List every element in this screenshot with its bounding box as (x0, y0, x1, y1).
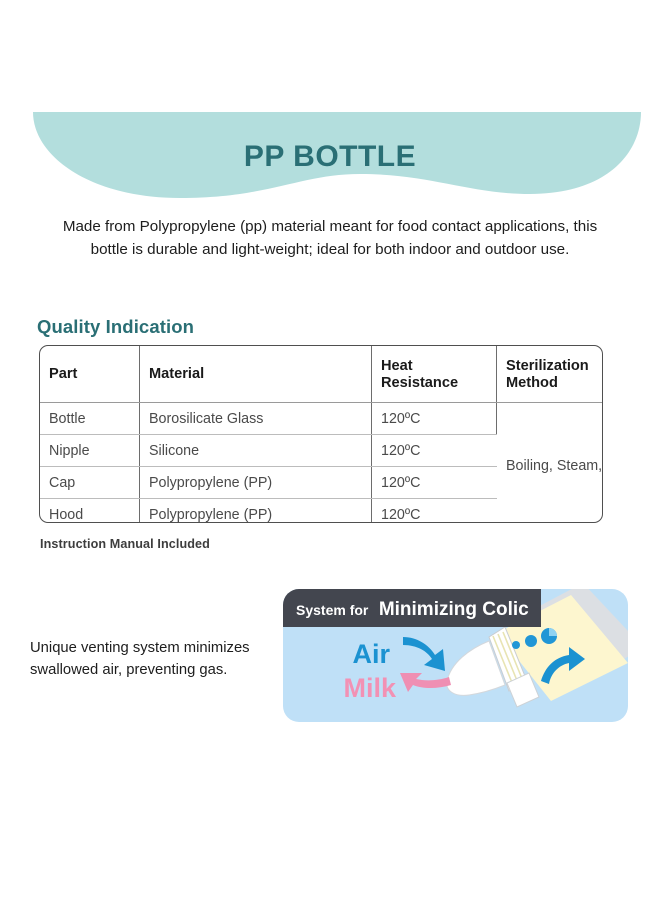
cell-heat-resistance: 120ºC (372, 467, 497, 499)
cell-material: Silicone (140, 435, 372, 467)
cell-sterilization-method: Boiling, Steam, Chemical (497, 403, 604, 524)
table-header-row: Part Material Heat Resistance Sterilizat… (40, 346, 603, 403)
cell-part: Hood (40, 499, 140, 524)
colic-banner-emphasis: Minimizing Colic (379, 599, 529, 620)
colic-banner-prefix: System for (296, 602, 369, 618)
table-row: Bottle Borosilicate Glass 120ºC Boiling,… (40, 403, 603, 435)
column-header-heat-resistance: Heat Resistance (372, 346, 497, 403)
intro-paragraph: Made from Polypropylene (pp) material me… (50, 215, 610, 261)
cell-part: Bottle (40, 403, 140, 435)
cell-part: Cap (40, 467, 140, 499)
cell-heat-resistance: 120ºC (372, 499, 497, 524)
cell-material: Borosilicate Glass (140, 403, 372, 435)
bubble-icon (512, 641, 520, 649)
cell-part: Nipple (40, 435, 140, 467)
cell-heat-resistance: 120ºC (372, 435, 497, 467)
colic-banner-text: System for Minimizing Colic (296, 599, 529, 620)
air-label: Air (352, 639, 390, 669)
venting-description: Unique venting system minimizes swallowe… (30, 637, 270, 682)
quality-indication-heading: Quality Indication (37, 316, 194, 338)
page-title: PP BOTTLE (0, 140, 660, 174)
minimizing-colic-illustration: Air Milk System for Minimizing Colic (283, 589, 628, 722)
column-header-part: Part (40, 346, 140, 403)
heat-label-line1: Heat (381, 358, 413, 374)
column-header-material: Material (140, 346, 372, 403)
quality-indication-table: Part Material Heat Resistance Sterilizat… (39, 345, 603, 523)
heat-label-line2: Resistance (381, 375, 458, 391)
steril-label-line1: Sterilization (506, 358, 589, 374)
milk-label: Milk (343, 673, 396, 703)
cell-material: Polypropylene (PP) (140, 467, 372, 499)
column-header-sterilization-method: Sterilization Method (497, 346, 604, 403)
cell-material: Polypropylene (PP) (140, 499, 372, 524)
bubble-icon (525, 635, 537, 647)
cell-heat-resistance: 120ºC (372, 403, 497, 435)
steril-label-line2: Method (506, 375, 558, 391)
instruction-manual-note: Instruction Manual Included (40, 537, 210, 551)
